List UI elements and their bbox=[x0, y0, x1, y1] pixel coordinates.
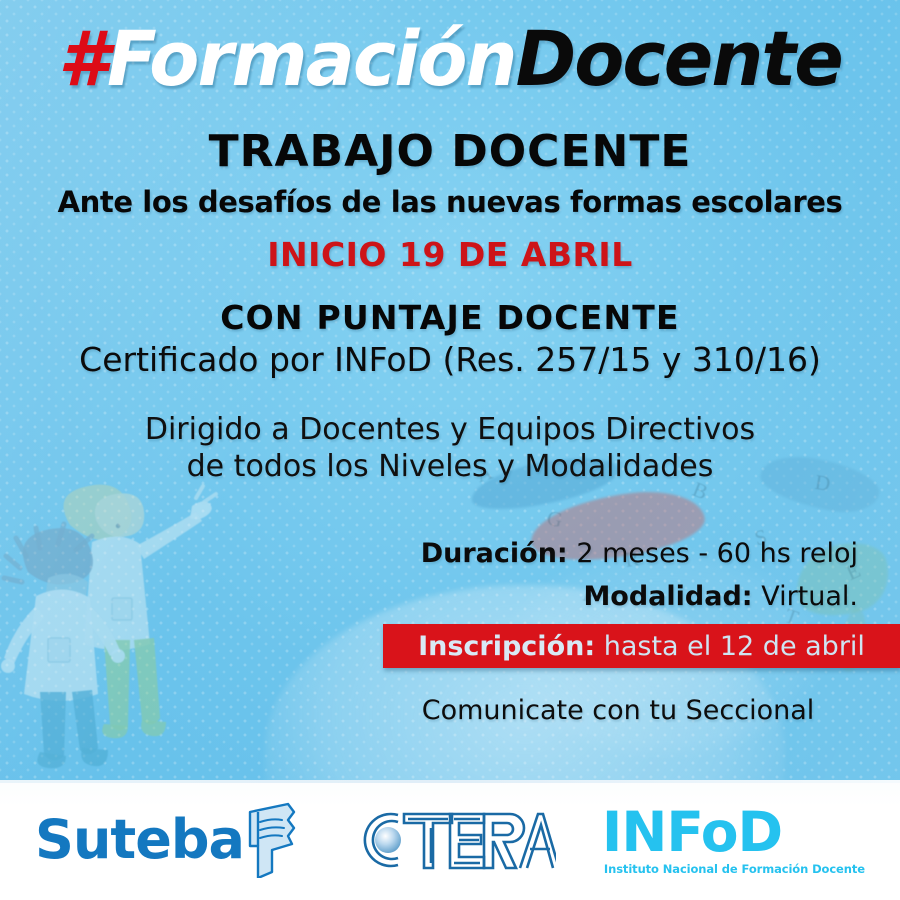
audience-line-1: Dirigido a Docentes y Equipos Directivos bbox=[0, 412, 900, 447]
infod-logo: INFoD Instituto Nacional de Formación Do… bbox=[602, 804, 865, 876]
logo-row: Suteba bbox=[0, 780, 900, 900]
registration-value: hasta el 12 de abril bbox=[604, 631, 865, 662]
modality-value: Virtual. bbox=[761, 581, 858, 612]
registration-banner: Inscripción: hasta el 12 de abril bbox=[383, 624, 900, 668]
duration-value: 2 meses - 60 hs reloj bbox=[576, 538, 858, 569]
course-subtitle: Ante los desafíos de las nuevas formas e… bbox=[0, 185, 900, 219]
contact-line: Comunicate con tu Seccional bbox=[383, 695, 853, 726]
modality-row: Modalidad: Virtual. bbox=[583, 581, 858, 612]
infod-subtitle: Instituto Nacional de Formación Docente bbox=[604, 862, 865, 876]
title-docente: Docente bbox=[516, 14, 842, 103]
title-formacion: Formación bbox=[107, 14, 516, 103]
suteba-wordmark: Suteba bbox=[35, 813, 244, 867]
start-date-text: INICIO 19 DE ABRIL bbox=[0, 235, 900, 274]
suteba-logo: Suteba bbox=[35, 802, 298, 878]
suteba-hand-flag-icon bbox=[242, 802, 298, 878]
infod-wordmark: INFoD bbox=[602, 804, 782, 860]
registration-row: Inscripción: hasta el 12 de abril bbox=[383, 624, 900, 668]
suteba-hand-flag-svg bbox=[242, 802, 298, 878]
score-line: CON PUNTAJE DOCENTE bbox=[0, 298, 900, 337]
duration-row: Duración: 2 meses - 60 hs reloj bbox=[421, 538, 858, 569]
ctera-wordmark-svg bbox=[344, 801, 556, 879]
poster-canvas: A G R B S D E P L T bbox=[0, 0, 900, 900]
page-title: #FormaciónDocente bbox=[18, 16, 882, 102]
registration-label: Inscripción: bbox=[418, 631, 595, 662]
audience-line-2: de todos los Niveles y Modalidades bbox=[0, 449, 900, 484]
certification-line: Certificado por INFoD (Res. 257/15 y 310… bbox=[0, 340, 900, 379]
hashtag-symbol: # bbox=[58, 14, 107, 103]
modality-label: Modalidad: bbox=[583, 581, 752, 612]
ctera-logo bbox=[344, 801, 556, 879]
footer-band: Suteba bbox=[0, 780, 900, 900]
course-title: TRABAJO DOCENTE bbox=[0, 126, 900, 177]
duration-label: Duración: bbox=[421, 538, 568, 569]
